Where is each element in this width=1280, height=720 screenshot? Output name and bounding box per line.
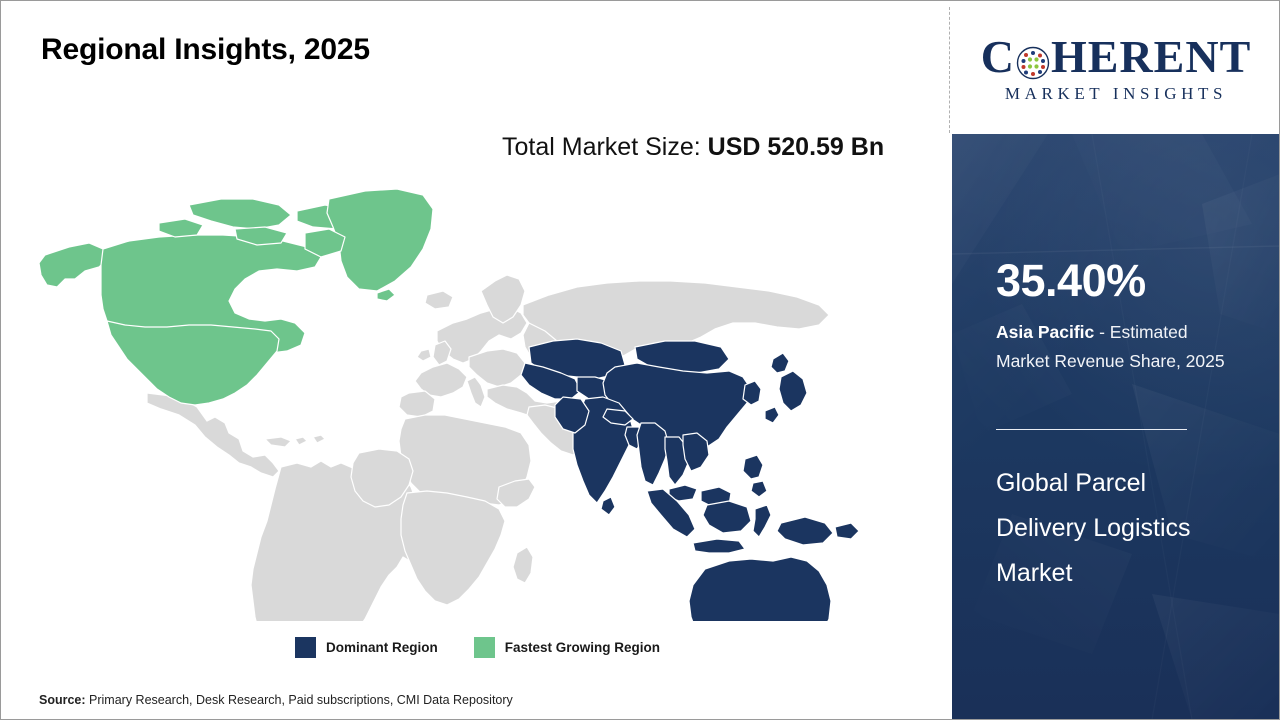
source-label: Source:: [39, 693, 86, 707]
stat-value: 35.40%: [996, 258, 1146, 303]
map-region-fastest-growing: [39, 189, 433, 405]
total-market-size-label: Total Market Size:: [502, 133, 708, 161]
legend-item-dominant: Dominant Region: [295, 637, 438, 658]
stat-description: Asia Pacific - Estimated Market Revenue …: [996, 318, 1234, 376]
vertical-divider: [949, 7, 950, 133]
panel-divider-rule: [996, 429, 1187, 430]
logo-wordmark-left: C: [981, 34, 1015, 80]
page-title: Regional Insights, 2025: [41, 33, 370, 67]
logo-wordmark-right: HERENT: [1051, 34, 1251, 80]
regional-insights-infographic: Regional Insights, 2025 Total Market Siz…: [0, 0, 1280, 720]
world-map-svg: [29, 171, 929, 621]
legend-item-fastest-growing: Fastest Growing Region: [474, 637, 660, 658]
total-market-size-value: USD 520.59 Bn: [708, 133, 884, 161]
brand-logo: C: [952, 2, 1280, 133]
right-info-panel: 35.40% Asia Pacific - Estimated Market R…: [952, 134, 1280, 720]
legend-label-dominant: Dominant Region: [326, 640, 438, 655]
logo-tagline: MARKET INSIGHTS: [966, 85, 1266, 102]
legend-label-fastest-growing: Fastest Growing Region: [505, 640, 660, 655]
map-legend: Dominant Region Fastest Growing Region: [295, 637, 660, 658]
market-name: Global Parcel Delivery Logistics Market: [996, 461, 1226, 596]
source-text: Primary Research, Desk Research, Paid su…: [86, 693, 513, 707]
map-region-dominant: [521, 339, 887, 621]
globe-icon: [1016, 42, 1050, 76]
legend-swatch-fastest-growing: [474, 637, 495, 658]
source-line: Source: Primary Research, Desk Research,…: [39, 693, 513, 707]
logo-wordmark: C: [966, 34, 1266, 80]
stat-region-name: Asia Pacific: [996, 322, 1094, 342]
total-market-size: Total Market Size: USD 520.59 Bn: [502, 127, 922, 167]
legend-swatch-dominant: [295, 637, 316, 658]
world-map: [29, 171, 929, 621]
